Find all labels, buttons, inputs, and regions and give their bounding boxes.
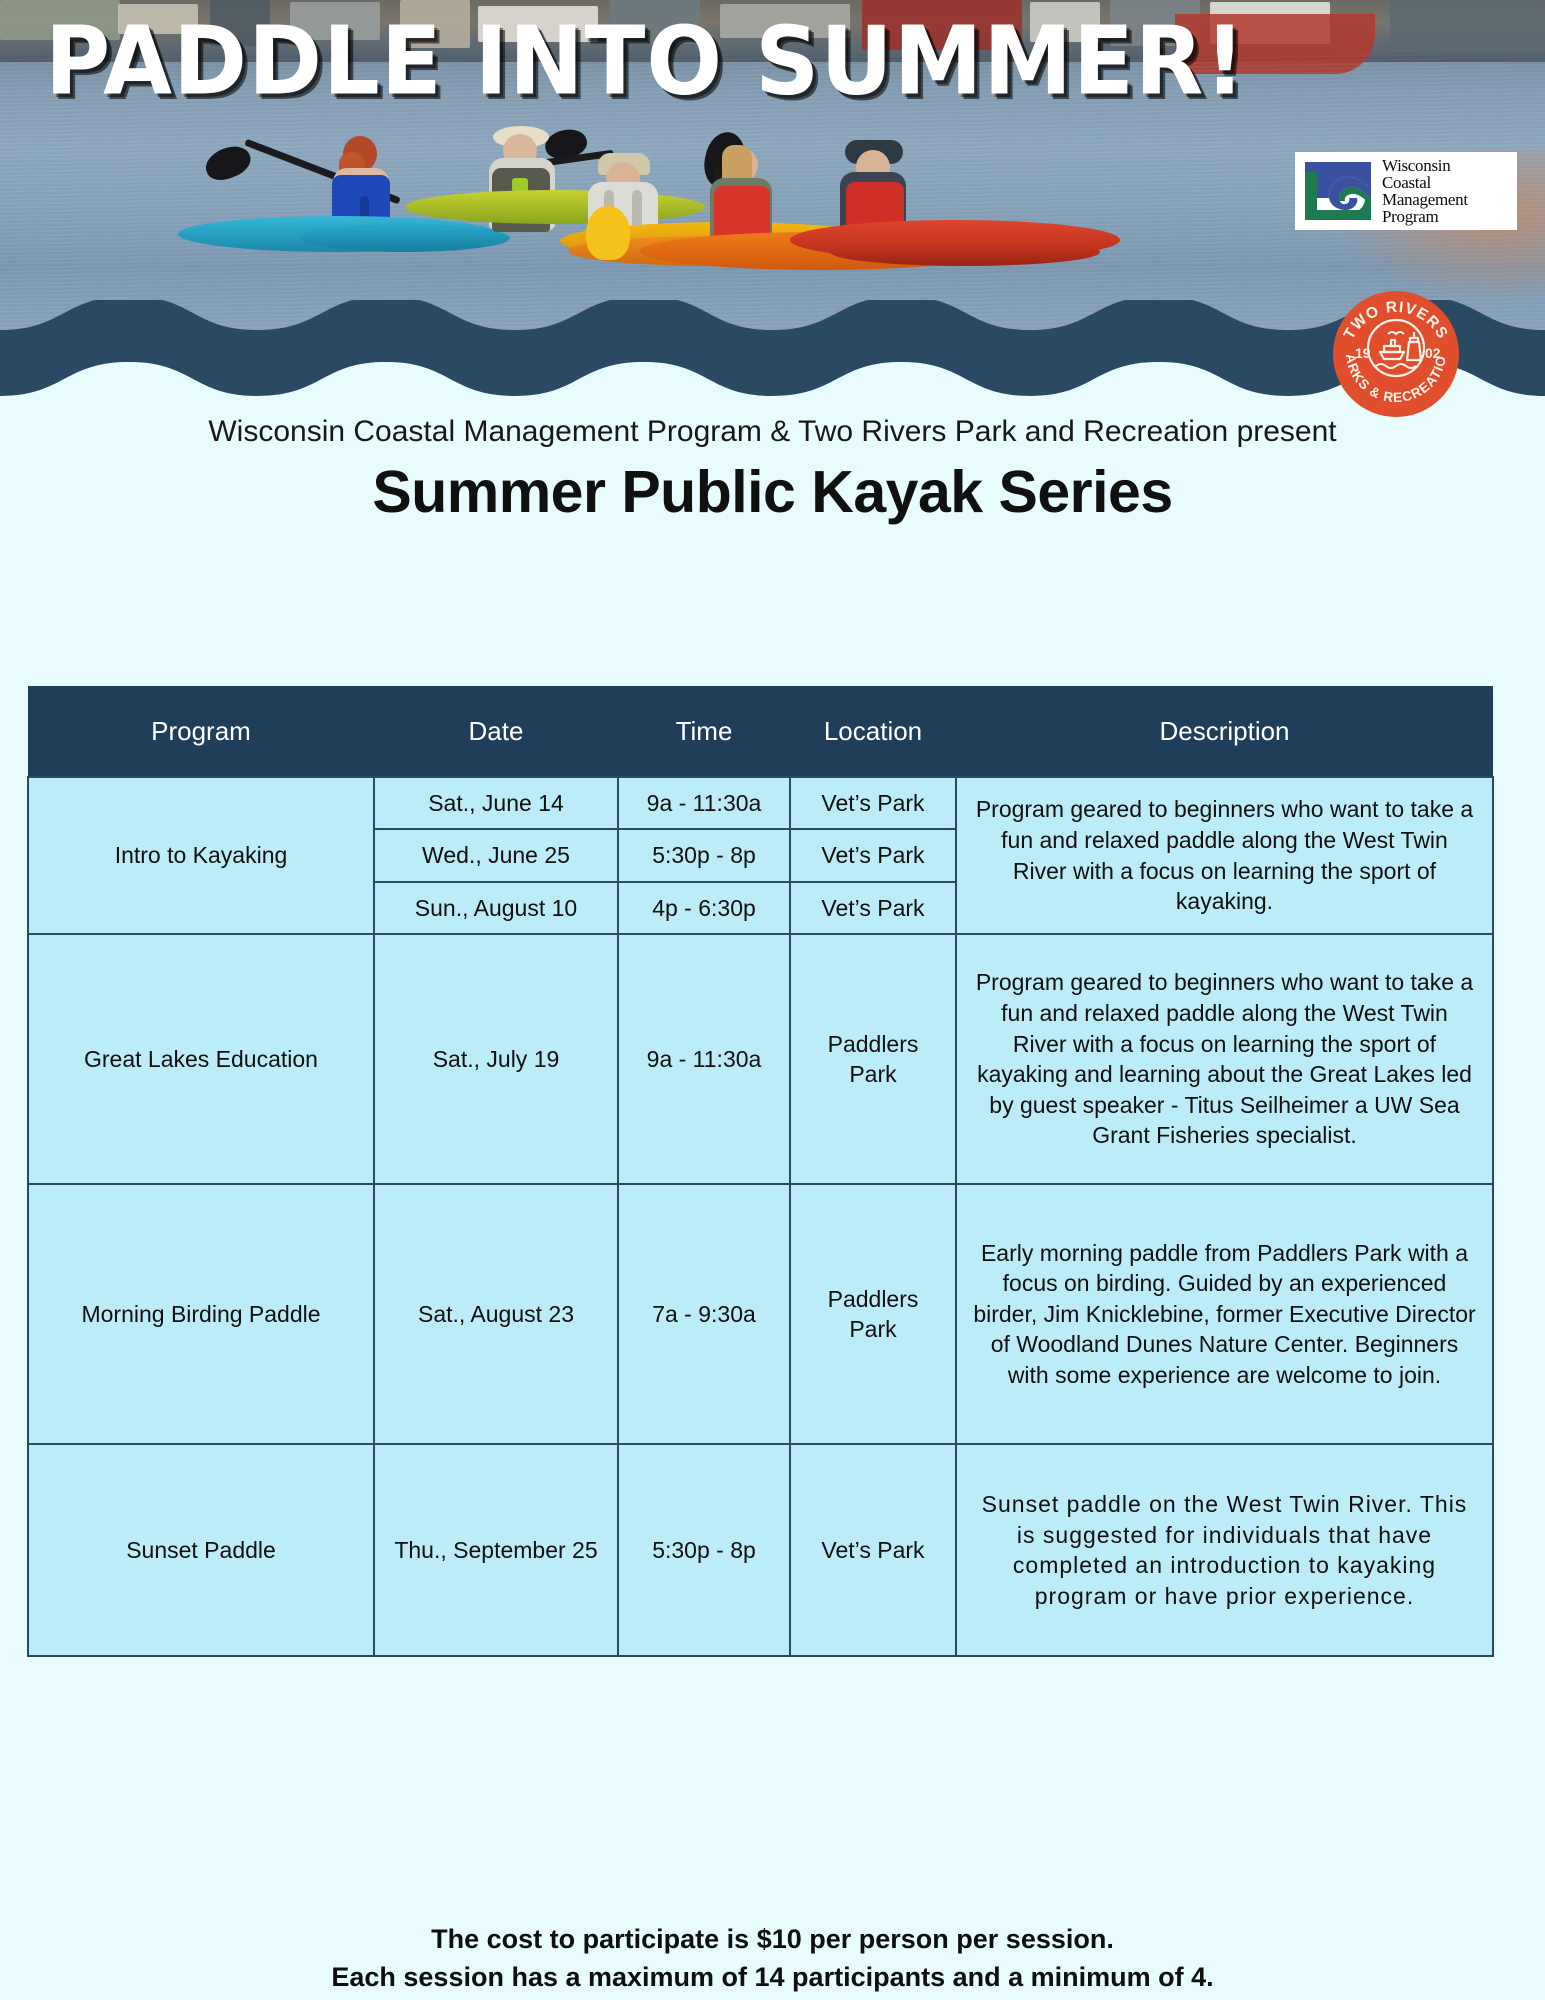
cell-description: Sunset paddle on the West Twin River. Th…: [956, 1444, 1493, 1656]
two-rivers-parks-and-recreation-badge: TWO RIVERS PARKS & RECREATION 19 02: [1332, 290, 1460, 418]
flyer-page: PADDLE INTO SUMMER! Wisconsin Coastal Ma…: [0, 0, 1545, 2000]
column-header-description: Description: [956, 686, 1493, 777]
cell-date: Sun., August 10: [374, 882, 618, 934]
paddle-blade-yellow: [586, 206, 630, 260]
column-header-location: Location: [790, 686, 956, 777]
table-row: Great Lakes Education Sat., July 19 9a -…: [28, 934, 1493, 1184]
wisconsin-coastal-management-program-logo: Wisconsin Coastal Management Program: [1295, 152, 1517, 230]
cell-location: Vet’s Park: [790, 829, 956, 881]
cell-date: Thu., September 25: [374, 1444, 618, 1656]
cell-location: Paddlers Park: [790, 934, 956, 1184]
footer-line-2: Each session has a maximum of 14 partici…: [0, 1958, 1545, 1996]
wave-divider: [0, 300, 1545, 430]
cell-date: Sat., June 14: [374, 777, 618, 829]
cell-program: Great Lakes Education: [28, 934, 374, 1184]
wcmp-line4: Program: [1382, 208, 1468, 225]
table-row: Morning Birding Paddle Sat., August 23 7…: [28, 1184, 1493, 1444]
cell-description: Early morning paddle from Paddlers Park …: [956, 1184, 1493, 1444]
table-row: Sunset Paddle Thu., September 25 5:30p -…: [28, 1444, 1493, 1656]
wave-mark-icon: [1301, 158, 1375, 224]
cell-location: Vet’s Park: [790, 777, 956, 829]
cell-program: Sunset Paddle: [28, 1444, 374, 1656]
cell-location: Vet’s Park: [790, 1444, 956, 1656]
page-title: PADDLE INTO SUMMER!: [45, 14, 1246, 108]
cell-description: Program geared to beginners who want to …: [956, 777, 1493, 934]
cell-program: Morning Birding Paddle: [28, 1184, 374, 1444]
wcmp-line1: Wisconsin: [1382, 157, 1468, 174]
table-header-row: Program Date Time Location Description: [28, 686, 1493, 777]
presenters-line: Wisconsin Coastal Management Program & T…: [0, 415, 1545, 449]
cell-time: 4p - 6:30p: [618, 882, 790, 934]
cell-date: Sat., July 19: [374, 934, 618, 1184]
cell-date: Sat., August 23: [374, 1184, 618, 1444]
main-heading: Summer Public Kayak Series: [0, 458, 1545, 526]
schedule-table-wrapper: Program Date Time Location Description I…: [27, 686, 1492, 1657]
wcmp-wordmark: Wisconsin Coastal Management Program: [1382, 157, 1468, 225]
cell-time: 5:30p - 8p: [618, 1444, 790, 1656]
badge-year-right: 02: [1425, 345, 1441, 361]
column-header-time: Time: [618, 686, 790, 777]
wcmp-line3: Management: [1382, 191, 1468, 208]
cell-time: 9a - 11:30a: [618, 934, 790, 1184]
table-row: Intro to Kayaking Sat., June 14 9a - 11:…: [28, 777, 1493, 829]
schedule-table: Program Date Time Location Description I…: [27, 686, 1494, 1657]
cell-location: Vet’s Park: [790, 882, 956, 934]
table-header: Program Date Time Location Description: [28, 686, 1493, 777]
wcmp-line2: Coastal: [1382, 174, 1468, 191]
kayak-green: [405, 190, 705, 224]
kayak-blue-hull: [300, 224, 510, 252]
cell-date: Wed., June 25: [374, 829, 618, 881]
cell-description: Program geared to beginners who want to …: [956, 934, 1493, 1184]
kayak-red-hull: [830, 238, 1100, 266]
cell-program: Intro to Kayaking: [28, 777, 374, 934]
dock-object: [1390, 0, 1545, 52]
column-header-date: Date: [374, 686, 618, 777]
footer-note: The cost to participate is $10 per perso…: [0, 1920, 1545, 1997]
cell-time: 7a - 9:30a: [618, 1184, 790, 1444]
cell-time: 5:30p - 8p: [618, 829, 790, 881]
cell-time: 9a - 11:30a: [618, 777, 790, 829]
cell-location: Paddlers Park: [790, 1184, 956, 1444]
column-header-program: Program: [28, 686, 374, 777]
footer-line-1: The cost to participate is $10 per perso…: [0, 1920, 1545, 1958]
table-body: Intro to Kayaking Sat., June 14 9a - 11:…: [28, 777, 1493, 1656]
